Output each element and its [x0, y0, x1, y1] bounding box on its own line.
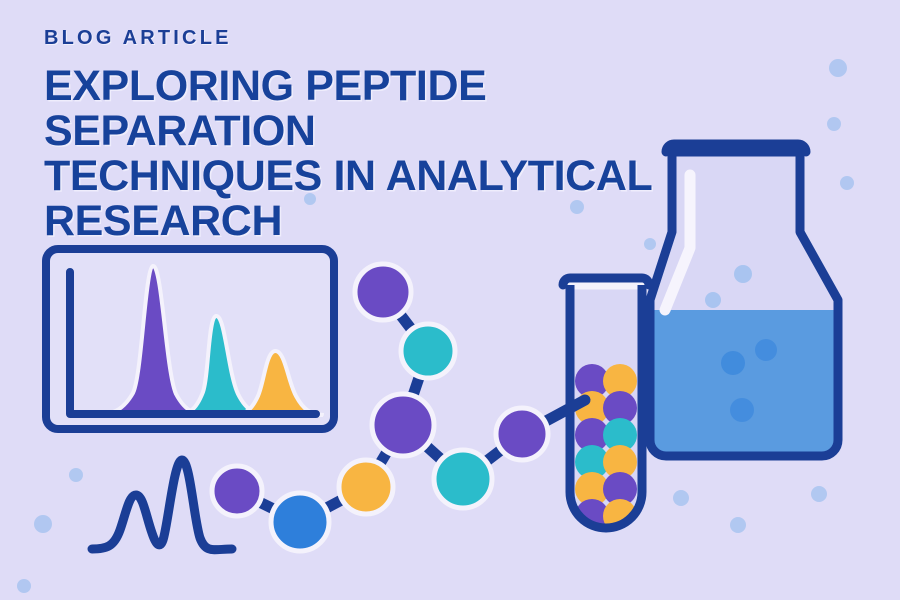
decor-dot: [69, 468, 83, 482]
decor-dot: [827, 117, 841, 131]
molecule-node: [434, 450, 492, 508]
headline-line-1: EXPLORING PEPTIDE SEPARATION: [44, 64, 744, 154]
molecule-node: [401, 324, 455, 378]
molecule-node: [355, 264, 411, 320]
air-bubble: [734, 265, 752, 283]
headline-line-2: TECHNIQUES IN ANALYTICAL: [44, 154, 744, 199]
blog-article-banner: BLOG ARTICLE EXPLORING PEPTIDE SEPARATIO…: [0, 0, 900, 600]
chromatogram-panel: [46, 249, 334, 429]
decor-dot: [34, 515, 52, 533]
liquid-bubble: [730, 398, 754, 422]
headline-line-3: RESEARCH: [44, 199, 744, 244]
decor-dot: [829, 59, 847, 77]
molecule-node: [496, 408, 548, 460]
decor-dot: [840, 176, 854, 190]
molecule-node: [339, 460, 393, 514]
page-title: EXPLORING PEPTIDE SEPARATION TECHNIQUES …: [44, 64, 744, 245]
liquid-bubble: [721, 351, 745, 375]
liquid-bubble: [755, 339, 777, 361]
eyebrow-label: BLOG ARTICLE: [44, 28, 744, 48]
decor-dot: [811, 486, 827, 502]
air-bubble: [705, 292, 721, 308]
headline-block: BLOG ARTICLE EXPLORING PEPTIDE SEPARATIO…: [44, 28, 744, 245]
molecule-node: [271, 493, 329, 551]
decor-dot: [673, 490, 689, 506]
decor-dot: [17, 579, 31, 593]
molecule-node: [372, 394, 434, 456]
molecule-node: [212, 466, 262, 516]
decor-dot: [730, 517, 746, 533]
